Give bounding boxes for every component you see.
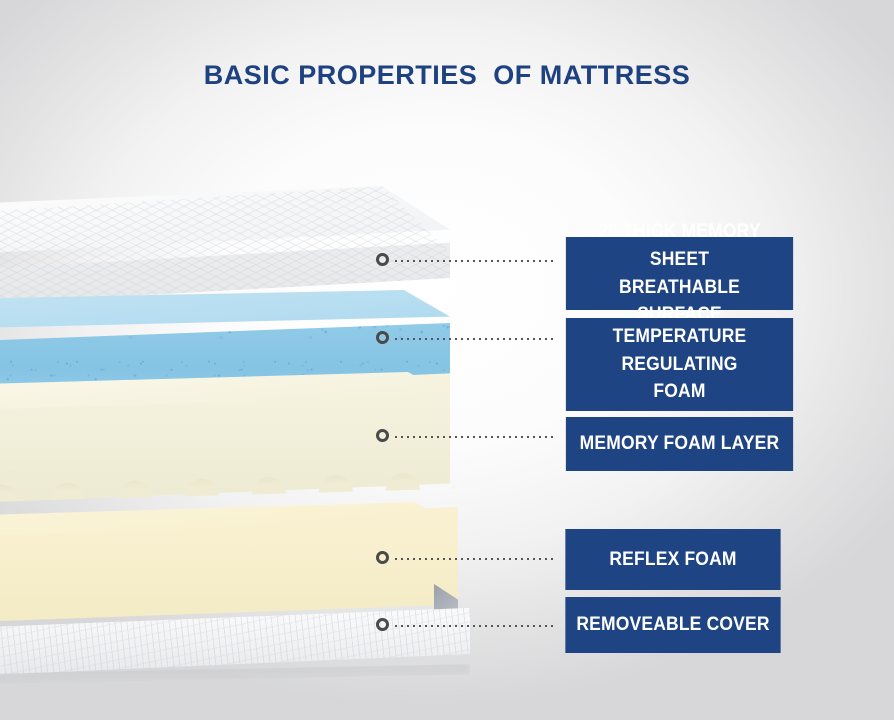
connector-memory-foam-layer [376,429,556,445]
label-reflex-foam[interactable]: REFLEX FOAM [565,529,780,590]
connector-ring-icon [376,551,389,564]
label-removeable-cover[interactable]: REMOVEABLE COVER [565,597,780,653]
connector-dotted-line [395,260,556,262]
connector-dotted-line [395,436,556,438]
label-memory-sheet[interactable]: 2” THICK MEMORY SHEET BREATHABLE SURFACE [566,237,793,310]
connector-dotted-line [395,338,556,340]
connector-temperature-foam [376,331,556,347]
connector-reflex-foam [376,551,556,567]
label-memory-foam-layer[interactable]: MEMORY FOAM LAYER [566,417,793,471]
label-temperature-foam[interactable]: TEMPERATURE REGULATING FOAM [566,318,793,411]
connector-ring-icon [376,253,389,266]
page-title: BASIC PROPERTIES OF MATTRESS [0,60,894,91]
connector-removeable-cover [376,618,556,634]
connector-ring-icon [376,618,389,631]
connector-ring-icon [376,331,389,344]
connector-dotted-line [395,558,556,560]
connector-dotted-line [395,625,556,627]
mattress-infographic: BASIC PROPERTIES OF MATTRESS [0,0,894,720]
connector-memory-sheet [376,253,556,269]
mattress-layer-breathable-top-sheet [0,186,464,304]
connector-ring-icon [376,429,389,442]
